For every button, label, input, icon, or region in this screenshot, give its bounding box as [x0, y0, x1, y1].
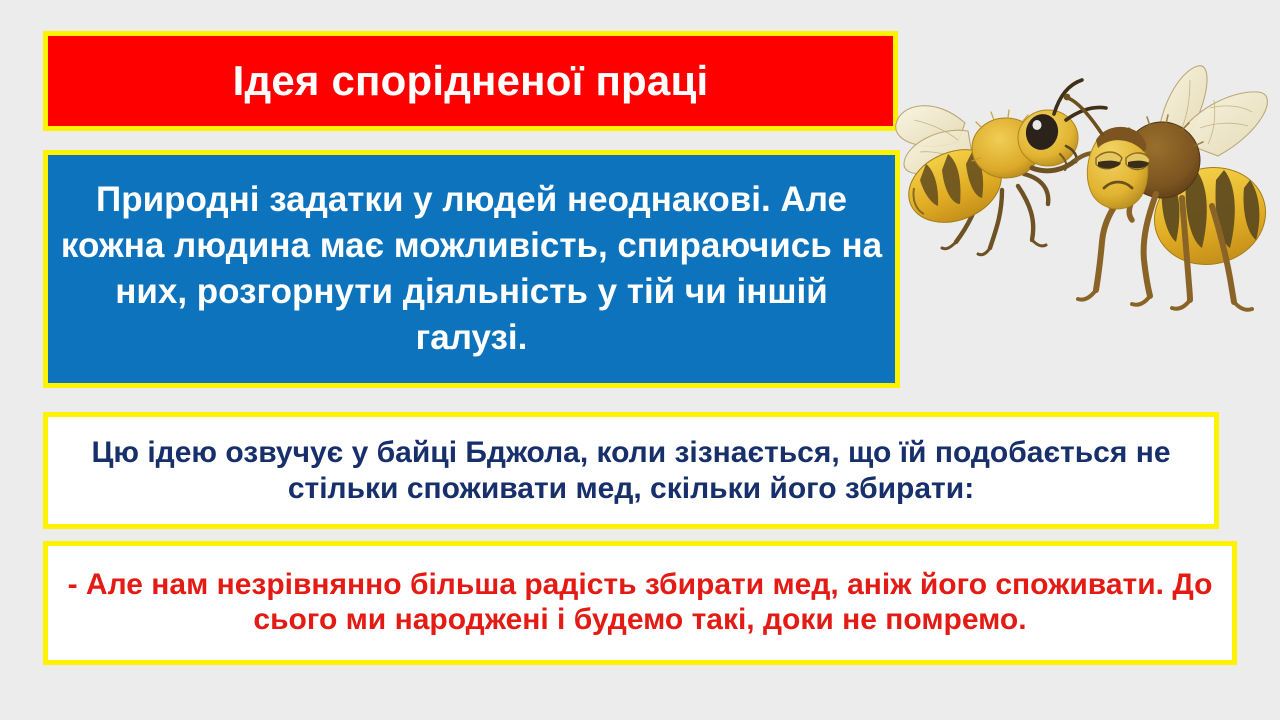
sad-bee: [1064, 66, 1276, 310]
title-banner: Ідея спорідненої праці: [43, 31, 898, 131]
page-title: Ідея спорідненої праці: [223, 59, 719, 103]
bees-svg: [890, 28, 1280, 328]
quote-text: - Але нам незрівнянно більша радість зби…: [48, 568, 1232, 638]
statement-text: Природні задатки у людей неоднакові. Але…: [48, 177, 895, 362]
context-box: Цю ідею озвучує у байці Бджола, коли зіз…: [43, 412, 1219, 529]
quote-box: - Але нам незрівнянно більша радість зби…: [43, 541, 1237, 665]
context-text: Цю ідею озвучує у байці Бджола, коли зіз…: [48, 435, 1214, 506]
statement-box: Природні задатки у людей неоднакові. Але…: [43, 150, 900, 388]
two-bees-illustration: [890, 28, 1280, 328]
sad-bee-head: [1064, 94, 1150, 209]
happy-bee: [896, 80, 1106, 255]
slide-canvas: Ідея спорідненої праці Природні задатки …: [0, 0, 1280, 720]
